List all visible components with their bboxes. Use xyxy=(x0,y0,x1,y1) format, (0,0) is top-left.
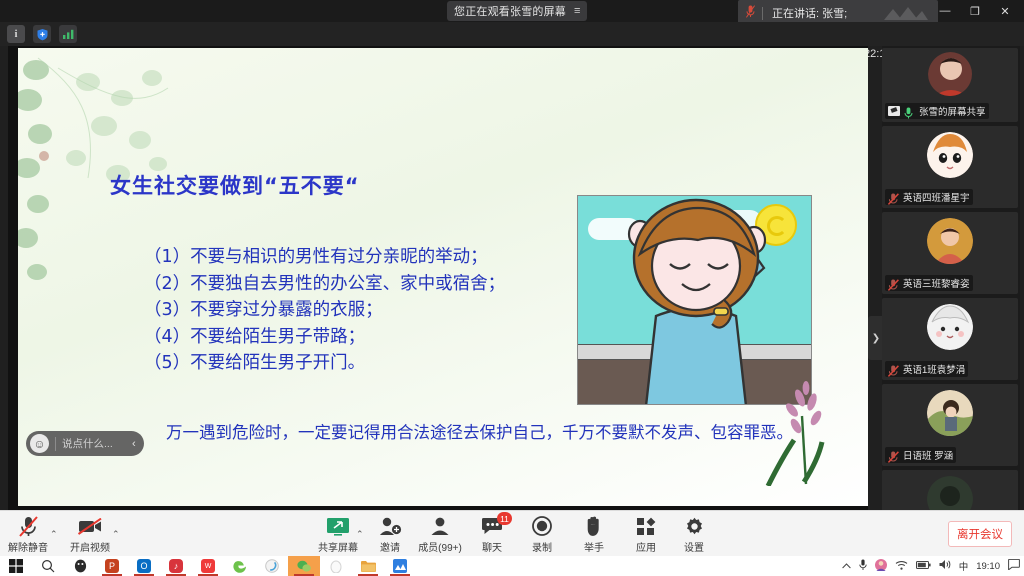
minimize-button[interactable]: — xyxy=(930,0,960,22)
windows-taskbar: P O ♪ W xyxy=(0,556,1024,576)
window-controls: — ❐ ✕ xyxy=(930,0,1020,22)
restore-button[interactable]: ❐ xyxy=(960,0,990,22)
chat-input-overlay[interactable]: ☺ 说点什么... ‹ xyxy=(26,431,144,456)
browser-icon[interactable] xyxy=(256,556,288,576)
participant-status: 英语1班袁梦涓 xyxy=(885,361,968,377)
mic-muted-icon xyxy=(0,515,56,537)
participant-status: 日语班 罗涵 xyxy=(885,447,956,463)
participant-name: 英语1班袁梦涓 xyxy=(903,362,965,376)
video-button[interactable]: 开启视频 xyxy=(62,515,118,554)
system-tray: 中 19:10 xyxy=(842,556,1020,576)
slide-title: 女生社交要做到“五不要“ xyxy=(110,170,360,200)
info-icon[interactable]: i xyxy=(7,25,25,43)
list-menu-icon[interactable]: ≡ xyxy=(574,6,580,17)
meeting-toolbar: 解除静音 ⌃ 开启视频 ⌃ 共享屏幕 xyxy=(0,510,1024,556)
participant-video-strip[interactable]: 张雪的屏幕共享 xyxy=(882,46,1020,510)
invite-person-icon xyxy=(362,515,418,537)
security-shield-icon[interactable] xyxy=(33,25,51,43)
invite-button[interactable]: 邀请 xyxy=(362,515,418,554)
divider xyxy=(55,437,56,451)
emoji-smiley-icon[interactable]: ☺ xyxy=(30,434,49,453)
screen-share-icon xyxy=(888,106,900,116)
mic-muted-icon xyxy=(888,364,899,375)
outlook-icon[interactable]: O xyxy=(128,556,160,576)
list-item: （5）不要给陌生男子开门。 xyxy=(144,350,505,377)
mic-on-icon xyxy=(904,106,915,117)
avatar xyxy=(927,218,973,264)
close-button[interactable]: ✕ xyxy=(990,0,1020,22)
watching-screen-label: 您正在观看张雪的屏幕 xyxy=(454,3,566,19)
user-avatar-icon[interactable] xyxy=(875,559,887,574)
raise-hand-label: 举手 xyxy=(566,539,622,554)
chat-button[interactable]: 11 聊天 xyxy=(464,515,520,554)
mic-muted-icon xyxy=(888,450,899,461)
speaking-label: 正在讲话: 张雪; xyxy=(772,5,847,21)
participants-label: 成员(99+) xyxy=(412,539,468,554)
participant-status: 英语三班黎睿姿 xyxy=(885,275,973,291)
participant-status: 英语四班潘星宇 xyxy=(885,189,973,205)
presentation-slide: 女生社交要做到“五不要“ （1）不要与相识的男性有过分亲昵的举动； （2）不要独… xyxy=(18,48,868,506)
chevron-up-icon[interactable] xyxy=(842,563,851,569)
record-button[interactable]: 录制 xyxy=(514,515,570,554)
notification-icon[interactable] xyxy=(1008,559,1020,573)
powerpoint-icon[interactable]: P xyxy=(96,556,128,576)
watching-screen-banner[interactable]: 您正在观看张雪的屏幕 ≡ xyxy=(447,1,587,21)
mute-label: 解除静音 xyxy=(0,539,56,554)
edge-icon[interactable] xyxy=(224,556,256,576)
video-options-caret[interactable]: ⌃ xyxy=(112,529,120,540)
mic-icon[interactable] xyxy=(859,559,867,574)
chevron-left-icon[interactable]: ‹ xyxy=(128,438,140,450)
avatar xyxy=(928,52,972,96)
invite-label: 邀请 xyxy=(362,539,418,554)
audio-wave-icon xyxy=(884,6,928,20)
slide-bullet-list: （1）不要与相识的男性有过分亲昵的举动； （2）不要独自去男性的办公室、家中或宿… xyxy=(144,244,505,377)
participant-name: 英语四班潘星宇 xyxy=(903,190,970,204)
avatar xyxy=(927,476,973,510)
settings-label: 设置 xyxy=(666,539,722,554)
participant-tile[interactable]: 英语1班袁梦涓 xyxy=(882,298,1018,380)
settings-button[interactable]: 设置 xyxy=(666,515,722,554)
wechat-icon[interactable] xyxy=(288,556,320,576)
ime-indicator[interactable]: 中 xyxy=(959,559,969,573)
camera-off-icon xyxy=(62,515,118,537)
cartoon-illustration xyxy=(577,195,812,405)
participant-name: 日语班 罗涵 xyxy=(903,448,953,462)
wifi-icon[interactable] xyxy=(895,560,908,573)
mic-options-caret[interactable]: ⌃ xyxy=(50,529,58,540)
tencent-meeting-icon[interactable] xyxy=(384,556,416,576)
mic-muted-icon xyxy=(888,192,899,203)
mic-muted-icon xyxy=(888,278,899,289)
avatar xyxy=(927,304,973,350)
raise-hand-icon xyxy=(566,515,622,537)
record-icon xyxy=(514,515,570,537)
windows-start-icon[interactable] xyxy=(0,556,32,576)
participants-icon xyxy=(412,515,468,537)
divider xyxy=(762,7,763,20)
volume-icon[interactable] xyxy=(939,559,951,573)
slide-paragraph: 万一遇到危险时，一定要记得用合法途径去保护自己，千万不要默不发声、包容罪恶。 xyxy=(138,420,848,446)
battery-icon[interactable] xyxy=(916,561,931,572)
network-signal-icon[interactable] xyxy=(59,25,77,43)
avatar xyxy=(927,132,973,178)
list-item: （4）不要给陌生男子带路； xyxy=(144,324,505,351)
raise-hand-button[interactable]: 举手 xyxy=(566,515,622,554)
participants-button[interactable]: 成员(99+) xyxy=(412,515,468,554)
title-bar: 您正在观看张雪的屏幕 ≡ 正在讲话: 张雪; xyxy=(0,0,1024,22)
participant-status: 张雪的屏幕共享 xyxy=(885,103,989,119)
meeting-info-bar: i 22:10 xyxy=(0,22,1024,46)
participant-tile[interactable]: 张雪的屏幕共享 xyxy=(882,48,1018,122)
avatar xyxy=(927,390,973,436)
participant-tile[interactable] xyxy=(882,470,1018,510)
leave-meeting-button[interactable]: 离开会议 xyxy=(948,521,1012,547)
gear-icon xyxy=(666,515,722,537)
system-clock[interactable]: 19:10 xyxy=(976,561,1000,572)
wps-icon[interactable]: W xyxy=(192,556,224,576)
participant-tile[interactable]: 英语三班黎睿姿 xyxy=(882,212,1018,294)
tencent-meeting-window: 您正在观看张雪的屏幕 ≡ 正在讲话: 张雪; xyxy=(0,0,1024,576)
mic-muted-icon xyxy=(738,5,762,21)
share-screen-label: 共享屏幕 xyxy=(310,539,366,554)
shared-screen-stage[interactable]: 女生社交要做到“五不要“ （1）不要与相识的男性有过分亲昵的举动； （2）不要独… xyxy=(8,46,868,510)
participant-name: 张雪的屏幕共享 xyxy=(919,104,986,118)
list-item: （3）不要穿过分暴露的衣服； xyxy=(144,297,505,324)
video-label: 开启视频 xyxy=(62,539,118,554)
chat-unread-badge: 11 xyxy=(497,512,512,525)
netease-music-icon[interactable]: ♪ xyxy=(160,556,192,576)
flower-decoration-icon xyxy=(748,376,838,486)
list-item: （2）不要独自去男性的办公室、家中或宿舍； xyxy=(144,271,505,298)
participant-name: 英语三班黎睿姿 xyxy=(903,276,970,290)
chat-input[interactable]: 说点什么... xyxy=(62,436,122,451)
file-explorer-icon[interactable] xyxy=(352,556,384,576)
search-icon[interactable] xyxy=(32,556,64,576)
participant-tile[interactable]: 英语四班潘星宇 xyxy=(882,126,1018,208)
girl-figure xyxy=(578,196,812,405)
qq-icon[interactable] xyxy=(64,556,96,576)
list-item: （1）不要与相识的男性有过分亲昵的举动； xyxy=(144,244,505,271)
app-egg-icon[interactable] xyxy=(320,556,352,576)
record-label: 录制 xyxy=(514,539,570,554)
meeting-status-icons: i xyxy=(7,25,77,43)
participant-tile[interactable]: 日语班 罗涵 xyxy=(882,384,1018,466)
mute-button[interactable]: 解除静音 xyxy=(0,515,56,554)
chat-label: 聊天 xyxy=(464,539,520,554)
